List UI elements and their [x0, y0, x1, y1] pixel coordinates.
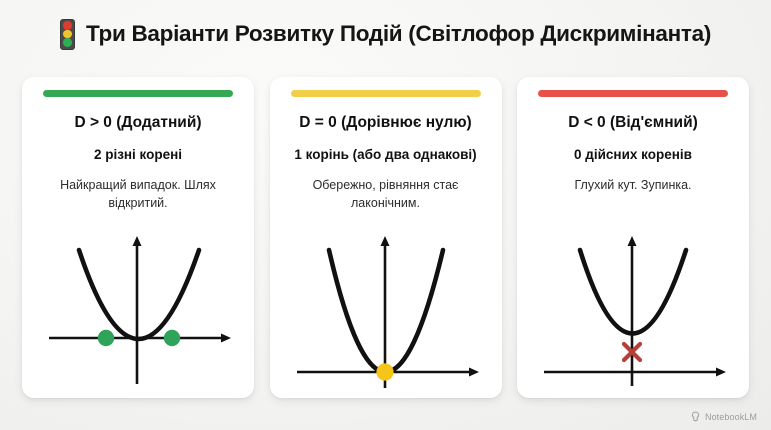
parabola-graph-no-roots [533, 230, 733, 392]
traffic-light-icon [60, 19, 75, 50]
x-axis-arrowhead [716, 368, 726, 377]
watermark-label: NotebookLM [705, 412, 757, 422]
root-marker-left [98, 330, 114, 346]
card-roots-count: 2 різні корені [94, 147, 182, 162]
traffic-light-green-lamp-icon [63, 38, 72, 47]
page-title: Три Варіанти Розвитку Подій (Світлофор Д… [86, 21, 711, 47]
x-axis-arrowhead [469, 368, 479, 377]
traffic-light-yellow-lamp-icon [63, 30, 72, 39]
root-marker-right [164, 330, 180, 346]
y-axis-arrowhead [628, 236, 637, 246]
card-description: Найкращий випадок. Шлях відкритий. [38, 177, 238, 213]
watermark: NotebookLM [690, 411, 757, 422]
parabola-curve [79, 250, 199, 339]
card-title: D = 0 (Дорівнює нулю) [299, 114, 471, 132]
y-axis-arrowhead [133, 236, 142, 246]
card-roots-count: 0 дійсних коренів [574, 147, 692, 162]
card-description: Глухий кут. Зупинка. [574, 177, 691, 195]
parabola-graph-one-root [286, 230, 486, 392]
parabola-graph-two-roots [38, 230, 238, 392]
card-title: D > 0 (Додатний) [74, 114, 201, 132]
traffic-light-red-lamp-icon [63, 21, 72, 30]
page-header: Три Варіанти Розвитку Подій (Світлофор Д… [0, 12, 771, 56]
accent-bar-green [43, 90, 233, 97]
y-axis-arrowhead [380, 236, 389, 246]
accent-bar-red [538, 90, 728, 97]
root-marker-tangent [376, 363, 393, 380]
card-title: D < 0 (Від'ємний) [568, 114, 698, 132]
card-description: Обережно, рівняння стає лаконічним. [286, 177, 486, 213]
accent-bar-yellow [291, 90, 481, 97]
cards-row: D > 0 (Додатний) 2 різні корені Найкращи… [22, 77, 749, 398]
x-axis-arrowhead [221, 334, 231, 343]
slide-canvas: Три Варіанти Розвитку Подій (Світлофор Д… [0, 0, 771, 430]
card-zero-discriminant: D = 0 (Дорівнює нулю) 1 корінь (або два … [270, 77, 502, 398]
card-positive-discriminant: D > 0 (Додатний) 2 різні корені Найкращи… [22, 77, 254, 398]
card-roots-count: 1 корінь (або два однакові) [294, 147, 476, 162]
notebooklm-icon [690, 411, 701, 422]
card-negative-discriminant: D < 0 (Від'ємний) 0 дійсних коренів Глух… [517, 77, 749, 398]
